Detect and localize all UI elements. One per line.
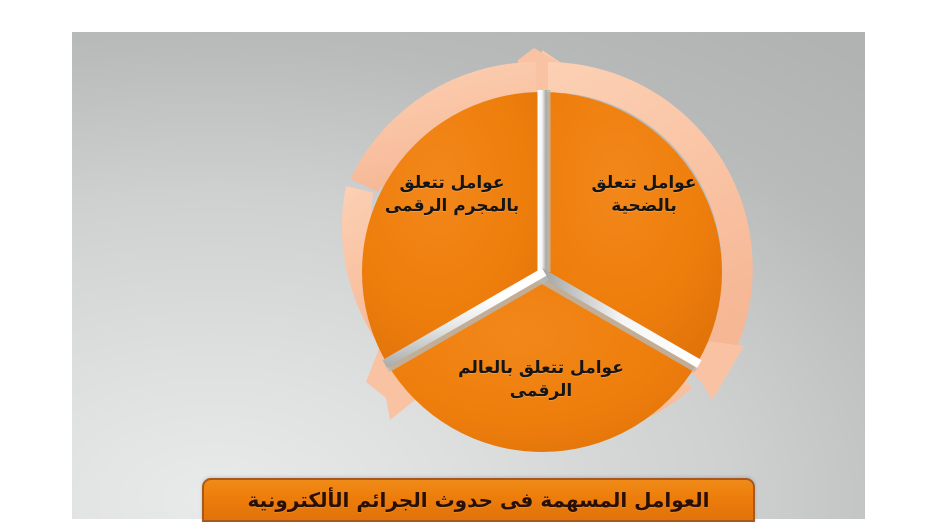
slide-background: عوامل تتعلق بالضحية عوامل تتعلق بالمجرم … — [72, 32, 865, 519]
cycle-diagram — [320, 46, 764, 498]
title-bar: العوامل المسهمة فى حدوث الجرائم الألكترو… — [202, 478, 755, 522]
title-text: العوامل المسهمة فى حدوث الجرائم الألكترو… — [248, 488, 710, 512]
slide-canvas: عوامل تتعلق بالضحية عوامل تتعلق بالمجرم … — [0, 0, 927, 522]
divider-top-shadow — [547, 90, 551, 272]
wedge-label-digital-world: عوامل تتعلق بالعالم الرقمى — [422, 357, 660, 404]
wedge-label-victim: عوامل تتعلق بالضحية — [559, 172, 729, 219]
wedge-label-criminal: عوامل تتعلق بالمجرم الرقمى — [360, 172, 544, 219]
